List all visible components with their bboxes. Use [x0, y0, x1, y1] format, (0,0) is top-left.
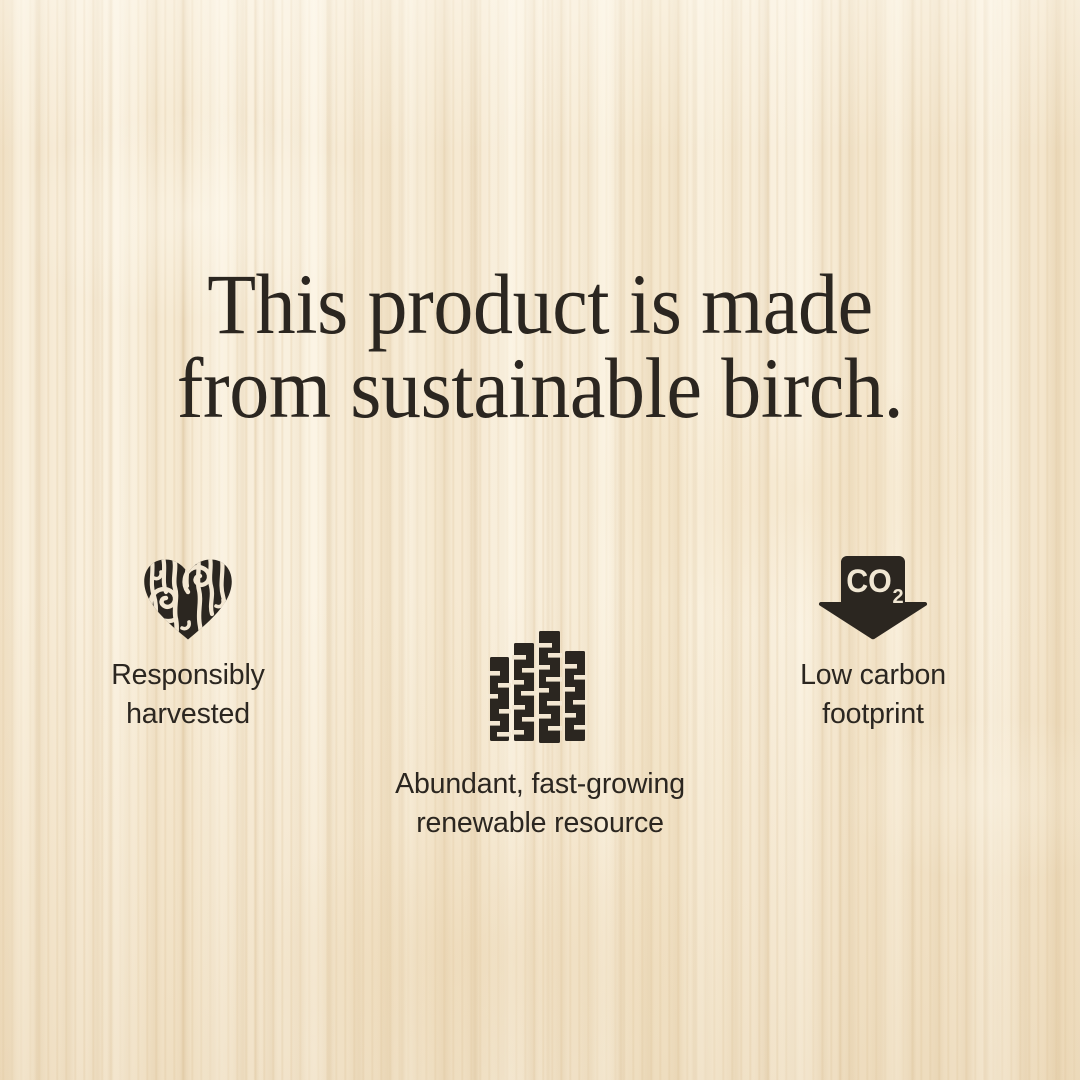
feature-caption: Abundant, fast-growing renewable resourc… [370, 765, 710, 843]
feature-caption: Responsibly harvested [48, 656, 328, 734]
wood-grain-fine [0, 0, 1080, 1080]
feature-low-carbon-footprint: CO 2 Low carbon footprint [733, 552, 1013, 734]
co2-down-arrow-icon: CO 2 [817, 556, 929, 640]
feature-icon-wrap: CO 2 [733, 552, 1013, 640]
feature-icon-wrap [370, 628, 710, 743]
wood-grain-base [0, 0, 1080, 1080]
feature-renewable-resource: Abundant, fast-growing renewable resourc… [370, 628, 710, 843]
birch-panel: This product is made from sustainable bi… [0, 0, 1080, 1080]
co2-label: CO [846, 563, 892, 599]
wood-grain-heart-icon [142, 558, 234, 640]
wood-grain-medium [0, 0, 1080, 1080]
feature-caption: Low carbon footprint [733, 656, 1013, 734]
page-title: This product is made from sustainable bi… [38, 262, 1042, 430]
co2-subscript: 2 [892, 586, 903, 608]
wood-grain-blotches [0, 0, 1080, 1080]
wood-grain-shading [0, 0, 1080, 1080]
birch-trees-icon [488, 631, 592, 743]
feature-icon-wrap [48, 552, 328, 640]
feature-responsibly-harvested: Responsibly harvested [48, 552, 328, 734]
